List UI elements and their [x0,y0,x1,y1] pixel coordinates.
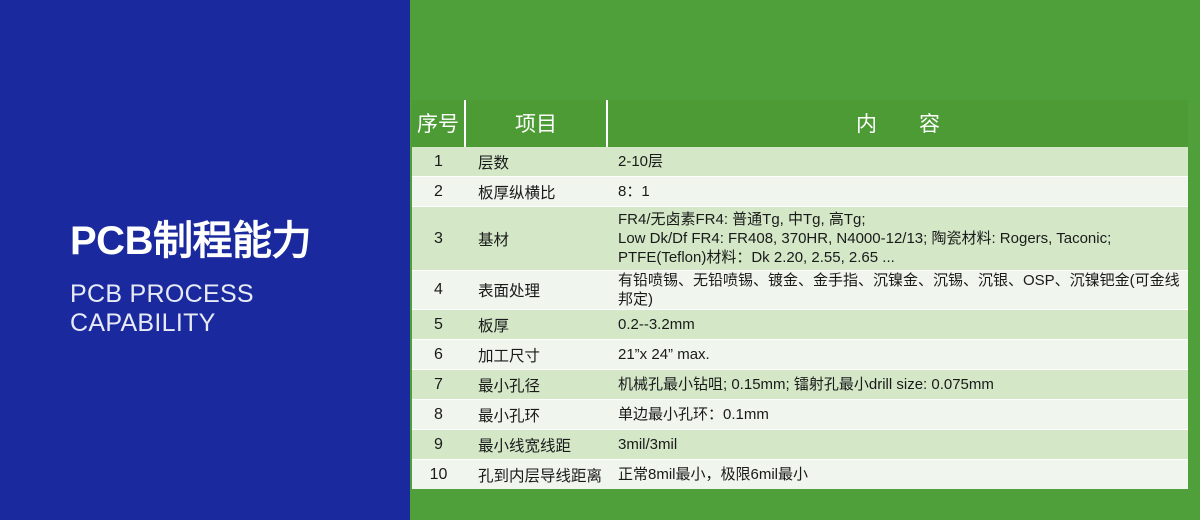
table-row: 1 层数 2-10层 [412,147,1188,177]
column-header-no: 序号 [412,100,465,147]
cell-item: 最小线宽线距 [465,430,607,460]
cell-item: 层数 [465,147,607,177]
cell-item: 板厚 [465,310,607,340]
table-header-row: 序号 项目 内 容 [412,100,1188,147]
table-row: 8 最小孔环 单边最小孔环：0.1mm [412,400,1188,430]
table-row: 10 孔到内层导线距离 正常8mil最小，极限6mil最小 [412,460,1188,490]
title-block: PCB制程能力 PCB PROCESS CAPABILITY [70,216,400,338]
cell-item: 基材 [465,207,607,271]
cell-no: 6 [412,340,465,370]
table-row: 7 最小孔径 机械孔最小钻咀; 0.15mm; 镭射孔最小drill size:… [412,370,1188,400]
column-header-content: 内 容 [607,100,1188,147]
cell-content: 21”x 24” max. [607,340,1188,370]
cell-no: 1 [412,147,465,177]
pcb-capability-table: 序号 项目 内 容 1 层数 2-10层 2 板厚纵横比 8：1 3 [412,100,1188,489]
table-body: 1 层数 2-10层 2 板厚纵横比 8：1 3 基材 FR4/无卤素FR4: … [412,147,1188,489]
column-header-item: 项目 [465,100,607,147]
cell-content: FR4/无卤素FR4: 普通Tg, 中Tg, 高Tg; Low Dk/Df FR… [607,207,1188,271]
cell-no: 9 [412,430,465,460]
page-title-english-line2: CAPABILITY [70,309,400,338]
cell-item: 加工尺寸 [465,340,607,370]
cell-item: 最小孔环 [465,400,607,430]
cell-item: 孔到内层导线距离 [465,460,607,490]
table-row: 3 基材 FR4/无卤素FR4: 普通Tg, 中Tg, 高Tg; Low Dk/… [412,207,1188,271]
cell-content: 机械孔最小钻咀; 0.15mm; 镭射孔最小drill size: 0.075m… [607,370,1188,400]
cell-item: 最小孔径 [465,370,607,400]
table-header: 序号 项目 内 容 [412,100,1188,147]
cell-no: 8 [412,400,465,430]
cell-content: 有铅喷锡、无铅喷锡、镀金、金手指、沉镍金、沉锡、沉银、OSP、沉镍钯金(可金线邦… [607,271,1188,310]
cell-item: 板厚纵横比 [465,177,607,207]
page-title-english: PCB PROCESS CAPABILITY [70,280,400,338]
table-row: 5 板厚 0.2--3.2mm [412,310,1188,340]
cell-no: 10 [412,460,465,490]
cell-no: 4 [412,271,465,310]
cell-no: 2 [412,177,465,207]
page-title-chinese: PCB制程能力 [70,216,400,266]
table-row: 2 板厚纵横比 8：1 [412,177,1188,207]
cell-item: 表面处理 [465,271,607,310]
cell-no: 5 [412,310,465,340]
table-row: 6 加工尺寸 21”x 24” max. [412,340,1188,370]
table-row: 9 最小线宽线距 3mil/3mil [412,430,1188,460]
table-row: 4 表面处理 有铅喷锡、无铅喷锡、镀金、金手指、沉镍金、沉锡、沉银、OSP、沉镍… [412,271,1188,310]
cell-content: 0.2--3.2mm [607,310,1188,340]
slide-root: PCB制程能力 PCB PROCESS CAPABILITY 序号 项目 内 容 [0,0,1200,520]
cell-content: 正常8mil最小，极限6mil最小 [607,460,1188,490]
spec-table-container: 序号 项目 内 容 1 层数 2-10层 2 板厚纵横比 8：1 3 [412,100,1188,489]
cell-content: 单边最小孔环：0.1mm [607,400,1188,430]
page-title-english-line1: PCB PROCESS [70,280,400,309]
cell-content: 2-10层 [607,147,1188,177]
left-title-panel: PCB制程能力 PCB PROCESS CAPABILITY [0,0,410,520]
cell-content: 8：1 [607,177,1188,207]
cell-no: 3 [412,207,465,271]
cell-content: 3mil/3mil [607,430,1188,460]
cell-no: 7 [412,370,465,400]
